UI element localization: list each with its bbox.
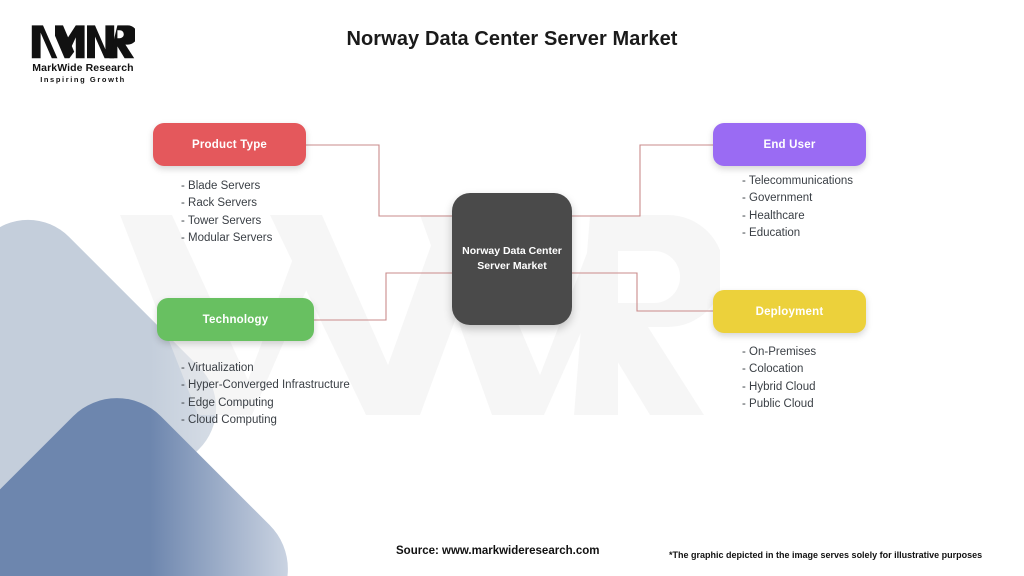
list-item: - Virtualization	[181, 360, 350, 377]
list-item: - Telecommunications	[742, 173, 853, 190]
footer-source[interactable]: Source: www.markwideresearch.com	[396, 545, 599, 557]
list-item: - Colocation	[742, 361, 816, 378]
list-item: - On-Premises	[742, 344, 816, 361]
list-item: - Modular Servers	[181, 230, 272, 247]
list-item: - Tower Servers	[181, 213, 272, 230]
branch-items-product-type: - Blade Servers - Rack Servers - Tower S…	[181, 178, 272, 248]
list-item: - Rack Servers	[181, 195, 272, 212]
branch-node-deployment[interactable]: Deployment	[713, 290, 866, 333]
list-item: - Healthcare	[742, 208, 853, 225]
list-item: - Public Cloud	[742, 396, 816, 413]
list-item: - Edge Computing	[181, 395, 350, 412]
list-item: - Government	[742, 190, 853, 207]
list-item: - Blade Servers	[181, 178, 272, 195]
branch-node-product-type[interactable]: Product Type	[153, 123, 306, 166]
list-item: - Education	[742, 225, 853, 242]
branch-node-technology[interactable]: Technology	[157, 298, 314, 341]
branch-items-end-user: - Telecommunications - Government - Heal…	[742, 173, 853, 243]
list-item: - Cloud Computing	[181, 412, 350, 429]
list-item: - Hyper-Converged Infrastructure	[181, 377, 350, 394]
branch-items-deployment: - On-Premises - Colocation - Hybrid Clou…	[742, 344, 816, 414]
center-node[interactable]: Norway Data Center Server Market	[452, 193, 572, 325]
branch-items-technology: - Virtualization - Hyper-Converged Infra…	[181, 360, 350, 430]
infographic-canvas: MarkWide Research Inspiring Growth Norwa…	[0, 0, 1024, 576]
list-item: - Hybrid Cloud	[742, 379, 816, 396]
branch-node-end-user[interactable]: End User	[713, 123, 866, 166]
footer-disclaimer: *The graphic depicted in the image serve…	[669, 550, 982, 560]
